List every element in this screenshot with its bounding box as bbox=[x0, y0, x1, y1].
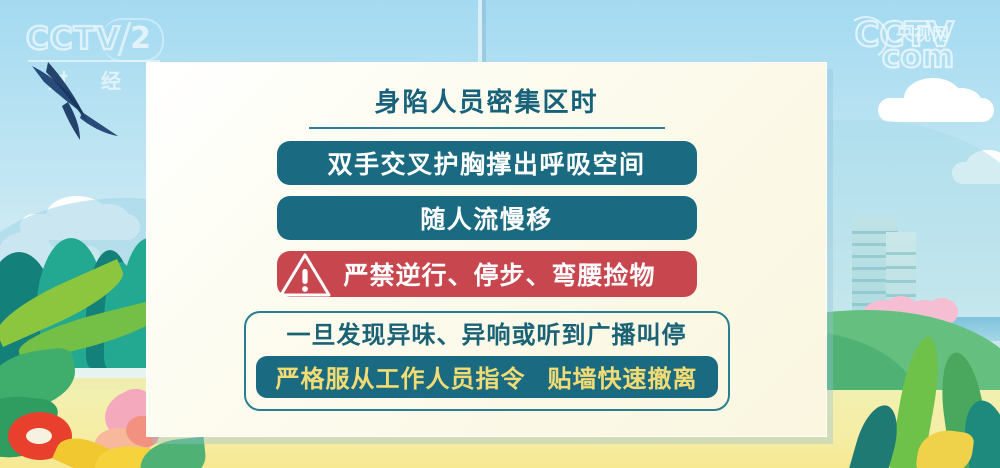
safety-info-card: 身陷人员密集区时 双手交叉护胸撑出呼吸空间 随人流慢移 严禁逆行、停步、弯腰捡物… bbox=[146, 62, 827, 437]
evacuation-box-line: 一旦发现异味、异响或听到广播叫停 bbox=[256, 322, 718, 348]
tip-bar-1-label: 双手交叉护胸撑出呼吸空间 bbox=[327, 145, 645, 181]
cctv-com-logo-com: com bbox=[882, 42, 954, 73]
top-divider-shadow bbox=[482, 0, 486, 64]
cctv2-logo-pill bbox=[102, 18, 164, 62]
tv-broadcast-frame: CCTV 2 财 经 CCTV 央视网 com 身陷人员密集区时 双手交叉护胸撑… bbox=[0, 0, 1000, 468]
tip-bar-1: 双手交叉护胸撑出呼吸空间 bbox=[277, 141, 697, 185]
evacuation-highlight-right: 贴墙快速撤离 bbox=[548, 359, 698, 394]
tip-bar-2: 随人流慢移 bbox=[277, 196, 697, 240]
evacuation-highlight-left: 严格服从工作人员指令 bbox=[276, 359, 526, 394]
warning-bar-label: 严禁逆行、停步、弯腰捡物 bbox=[343, 256, 655, 292]
swallow-icon bbox=[22, 62, 128, 140]
evacuation-box: 一旦发现异味、异响或听到广播叫停 严格服从工作人员指令 贴墙快速撤离 bbox=[244, 311, 730, 411]
evacuation-highlight-bar: 严格服从工作人员指令 贴墙快速撤离 bbox=[256, 356, 718, 398]
warning-bar: 严禁逆行、停步、弯腰捡物 bbox=[277, 251, 697, 297]
card-title: 身陷人员密集区时 bbox=[181, 89, 792, 118]
warning-triangle-icon bbox=[279, 251, 331, 297]
tip-bar-2-label: 随人流慢移 bbox=[420, 200, 553, 236]
cctv-com-website-logo: CCTV 央视网 com bbox=[855, 18, 954, 52]
title-underline bbox=[309, 127, 665, 129]
